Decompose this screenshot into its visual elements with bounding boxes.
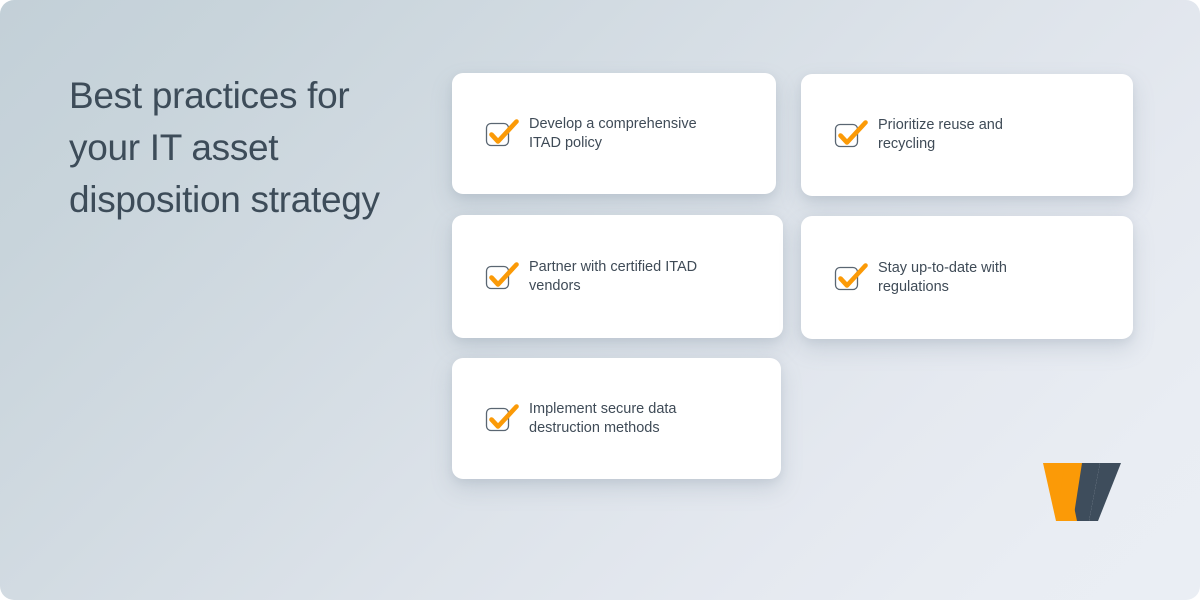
practice-card[interactable]: Partner with certified ITAD vendors: [452, 215, 783, 338]
checkbox-checked-icon: [834, 120, 864, 150]
checkbox-checked-icon: [834, 263, 864, 293]
checkbox-checked-icon: [485, 262, 515, 292]
page-title: Best practices for your IT asset disposi…: [69, 70, 439, 226]
practice-card[interactable]: Prioritize reuse and recycling: [801, 74, 1133, 196]
practice-card-label: Implement secure data destruction method…: [529, 400, 677, 438]
checkbox-checked-icon: [485, 119, 515, 149]
practice-card-label: Develop a comprehensive ITAD policy: [529, 115, 697, 153]
infographic-canvas: Best practices for your IT asset disposi…: [0, 0, 1200, 600]
practice-card-label: Partner with certified ITAD vendors: [529, 258, 697, 296]
checkbox-checked-icon: [485, 404, 515, 434]
practice-card-label: Prioritize reuse and recycling: [878, 116, 1003, 154]
practice-card-label: Stay up-to-date with regulations: [878, 259, 1007, 297]
practice-card[interactable]: Develop a comprehensive ITAD policy: [452, 73, 776, 194]
practice-card[interactable]: Stay up-to-date with regulations: [801, 216, 1133, 339]
practice-card[interactable]: Implement secure data destruction method…: [452, 358, 781, 479]
w-logo: [1037, 461, 1121, 527]
